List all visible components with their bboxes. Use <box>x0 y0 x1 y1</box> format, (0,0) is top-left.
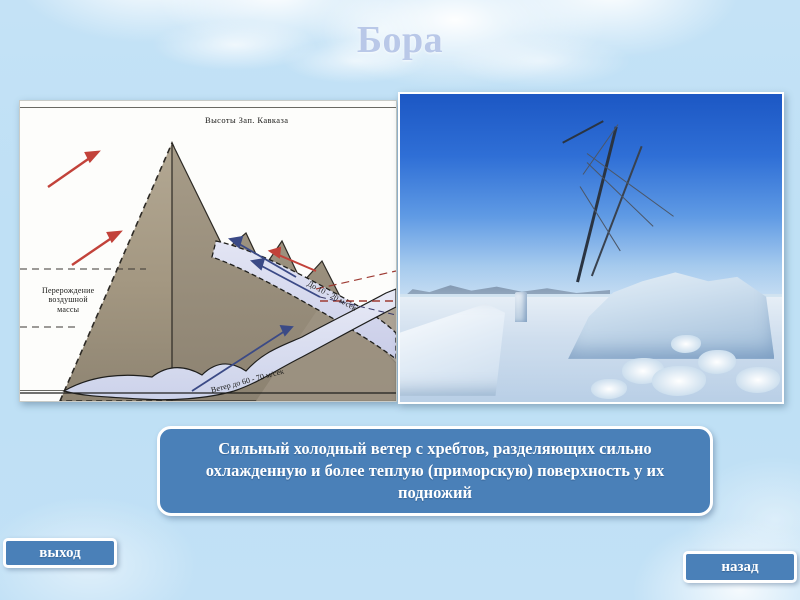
definition-text: Сильный холодный ветер с хребтов, раздел… <box>160 438 710 503</box>
iced-beacon <box>515 292 527 322</box>
iced-ship-photo <box>398 92 784 404</box>
presentation-slide: Бора <box>0 0 800 600</box>
back-button-label: назад <box>721 559 758 576</box>
exit-button[interactable]: выход <box>3 538 117 568</box>
diagram-drawing <box>20 101 396 401</box>
exit-button-label: выход <box>39 545 80 562</box>
ship-scene <box>400 94 782 402</box>
back-button[interactable]: назад <box>683 551 797 583</box>
warm-air-arrow <box>48 152 120 265</box>
bora-diagram-image: Высоты Зап. Кавказа Перерождение воздушн… <box>19 100 397 402</box>
ice-lump <box>671 335 701 353</box>
diagram-label-air-mass: Перерождение воздушной массы <box>42 286 94 314</box>
diagram-label-heights: Высоты Зап. Кавказа <box>205 115 288 125</box>
slide-title: Бора <box>0 18 800 62</box>
diagram-canvas: Высоты Зап. Кавказа Перерождение воздушн… <box>20 101 396 401</box>
definition-callout: Сильный холодный ветер с хребтов, раздел… <box>157 426 713 516</box>
